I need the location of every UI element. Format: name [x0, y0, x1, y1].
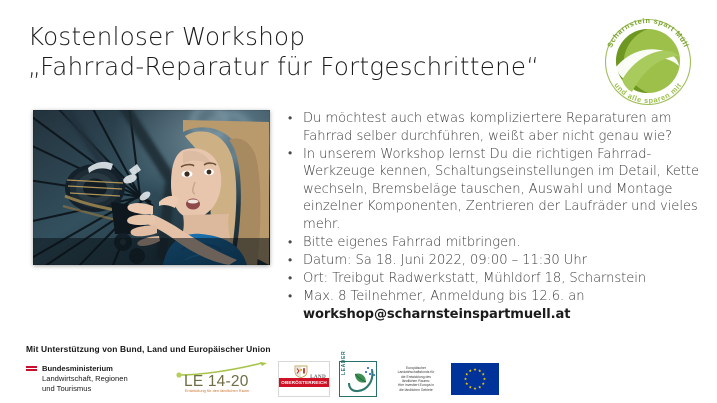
bullet-text: Bitte eigenes Fahrrad mitbringen.	[303, 235, 520, 250]
bmlrt-line-1: Bundesministerium	[42, 364, 128, 374]
ooe-coat-of-arms-icon	[294, 365, 308, 378]
leader-leaf-icon	[348, 364, 376, 396]
leader-word-text: LEADER	[341, 347, 347, 375]
list-item: In unserem Workshop lernst Du die richti…	[286, 146, 708, 234]
bullet-text: Ort: Treibgut Radwerkstatt, Mühldorf 18,…	[303, 271, 646, 286]
eu-funding-text: Europäischer Landwirtschaftsfonds für di…	[387, 366, 445, 392]
bmlrt-line-2: Landwirtschaft, Regionen	[42, 374, 128, 384]
list-item: Du möchtest auch etwas kompliziertere Re…	[286, 110, 708, 145]
bullet-text: Datum: Sa 18. Juni 2022, 09:00 – 11:30 U…	[303, 253, 587, 268]
european-union-flag	[451, 363, 499, 395]
le-subtitle-text: Entwicklung für den ländlichen Raum	[185, 389, 249, 393]
eu-text-line-6: die ländlichen Gebiete	[387, 388, 445, 392]
list-item: Max. 8 Teilnehmer, Anmeldung bis 12.6. a…	[286, 288, 708, 323]
austria-flag-icon	[26, 366, 37, 372]
list-item: Bitte eigenes Fahrrad mitbringen.	[286, 234, 708, 252]
ooe-red-band: OBERÖSTERREICH	[279, 378, 329, 387]
bmlrt-line-3: und Tourismus	[42, 384, 128, 394]
bundesministerium-logo: Bundesministerium Landwirtschaft, Region…	[26, 364, 166, 395]
bullet-text: Max. 8 Teilnehmer, Anmeldung bis 12.6. a…	[303, 289, 584, 304]
scharnstein-spart-muell-logo: Scharnstein spart Müll und alle sparen m…	[592, 6, 704, 106]
land-oberoesterreich-logo: LAND OBERÖSTERREICH	[278, 361, 330, 397]
sponsor-logo-row: Bundesministerium Landwirtschaft, Region…	[26, 357, 499, 401]
page-title: Kostenloser Workshop „Fahrrad-Reparatur …	[28, 22, 588, 82]
bundesministerium-text: Bundesministerium Landwirtschaft, Region…	[42, 364, 128, 395]
footer-sponsors: Mit Unterstützung von Bund, Land und Eur…	[0, 340, 717, 403]
title-line-1: Kostenloser Workshop	[28, 22, 588, 52]
bullet-list: Du möchtest auch etwas kompliziertere Re…	[286, 110, 708, 324]
title-line-2: „Fahrrad-Reparatur für Fortgeschrittene“	[28, 52, 588, 82]
bicycle-repair-photo	[33, 110, 270, 265]
ooe-band-text: OBERÖSTERREICH	[281, 380, 327, 385]
list-item: Datum: Sa 18. Juni 2022, 09:00 – 11:30 U…	[286, 252, 708, 270]
le-14-20-logo: LE 14-20 Entwicklung für den ländlichen …	[174, 359, 269, 399]
footer-heading: Mit Unterstützung von Bund, Land und Eur…	[26, 344, 271, 354]
registration-email[interactable]: workshop@scharnsteinspartmuell.at	[303, 306, 708, 324]
bullet-text: In unserem Workshop lernst Du die richti…	[303, 147, 699, 232]
bullet-text: Du möchtest auch etwas kompliziertere Re…	[303, 111, 672, 144]
list-item: Ort: Treibgut Radwerkstatt, Mühldorf 18,…	[286, 270, 708, 288]
presentation-slide: Kostenloser Workshop „Fahrrad-Reparatur …	[0, 0, 717, 403]
eu-stars-icon	[451, 363, 499, 395]
leader-logo: LEADER	[339, 361, 377, 397]
